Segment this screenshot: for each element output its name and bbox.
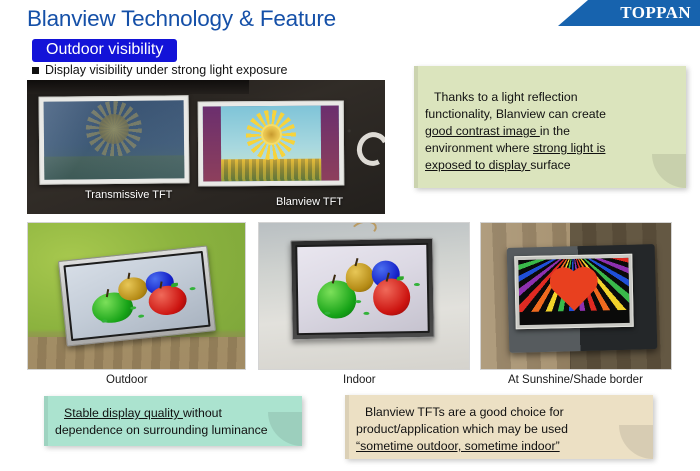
transmissive-tft-panel	[39, 95, 190, 185]
bullet-line: Display visibility under strong light ex…	[32, 63, 287, 77]
bullet-text: Display visibility under strong light ex…	[45, 63, 287, 77]
gold-apple	[345, 263, 374, 292]
logo-text: TOPPAN	[558, 0, 700, 26]
wooden-bench	[28, 337, 245, 369]
photo-indoor	[258, 222, 470, 370]
blanview-display-panel	[514, 254, 633, 329]
note-good-choice: Blanview TFTs are a good choice for prod…	[345, 395, 653, 459]
sunflower-field	[221, 158, 322, 181]
note-line: functionality, Blanview can create	[425, 106, 674, 123]
note-line: Blanview TFTs are a good choice for	[356, 404, 641, 421]
monitor-inner-frame	[295, 243, 430, 335]
note-corner-fold	[652, 154, 686, 188]
caption-indoor: Indoor	[343, 374, 376, 386]
note-line: good contrast image in the	[425, 123, 674, 140]
blanview-screen	[203, 106, 340, 182]
seed	[130, 306, 136, 310]
screen-side-bar-right	[321, 106, 339, 181]
seed	[363, 312, 369, 315]
heart-image-screen	[519, 258, 630, 325]
note-line: environment where strong light is	[425, 140, 674, 157]
photo-outdoor	[27, 222, 246, 370]
seed	[414, 283, 420, 286]
note-left-edge	[345, 395, 349, 459]
note-line: Thanks to a light reflection	[425, 89, 674, 106]
apple-image-screen	[297, 245, 427, 333]
photo-strong-light-comparison	[27, 80, 385, 214]
sunflower-center	[260, 124, 281, 145]
outdoor-monitor	[58, 245, 216, 346]
transmissive-screen	[44, 100, 185, 179]
blanview-tft-panel	[198, 100, 345, 186]
square-bullet-icon	[32, 67, 39, 74]
caption-sunshine-shade-border: At Sunshine/Shade border	[508, 374, 643, 386]
seed	[138, 314, 144, 318]
note-body: Thanks to a light reflection functionali…	[425, 75, 674, 174]
caption-outdoor: Outdoor	[106, 374, 148, 386]
note-corner-fold	[268, 412, 302, 446]
section-tag: Outdoor visibility	[32, 39, 177, 62]
toppan-logo: TOPPAN	[558, 0, 700, 26]
note-line: Stable display quality without	[55, 405, 290, 422]
note-stable-display-quality: Stable display quality without dependenc…	[44, 396, 302, 446]
caption-transmissive-tft: Transmissive TFT	[85, 189, 172, 201]
caption-blanview-tft: Blanview TFT	[276, 196, 343, 208]
screen-side-bar-left	[203, 106, 221, 181]
note-light-reflection: Thanks to a light reflection functionali…	[414, 66, 686, 188]
leaf	[397, 276, 404, 280]
apple-image-screen	[66, 253, 209, 339]
indoor-monitor	[290, 238, 435, 340]
note-line: “sometime outdoor, sometime indoor”	[356, 438, 641, 455]
red-apple	[373, 278, 411, 316]
note-left-edge	[414, 66, 418, 188]
seed	[355, 300, 361, 303]
page-title: Blanview Technology & Feature	[27, 6, 336, 32]
photo-sunshine-shade-border	[480, 222, 672, 370]
slide-canvas: TOPPAN Blanview Technology & Feature Out…	[0, 0, 700, 471]
screen-glare	[44, 100, 185, 179]
note-line: dependence on surrounding luminance	[55, 422, 290, 439]
seed	[189, 287, 195, 291]
gold-apple	[117, 276, 148, 302]
note-left-edge	[44, 396, 48, 446]
note-line: exposed to display surface	[425, 157, 674, 174]
note-line: product/application which may be used	[356, 421, 641, 438]
monitor-inner-frame	[63, 251, 210, 341]
